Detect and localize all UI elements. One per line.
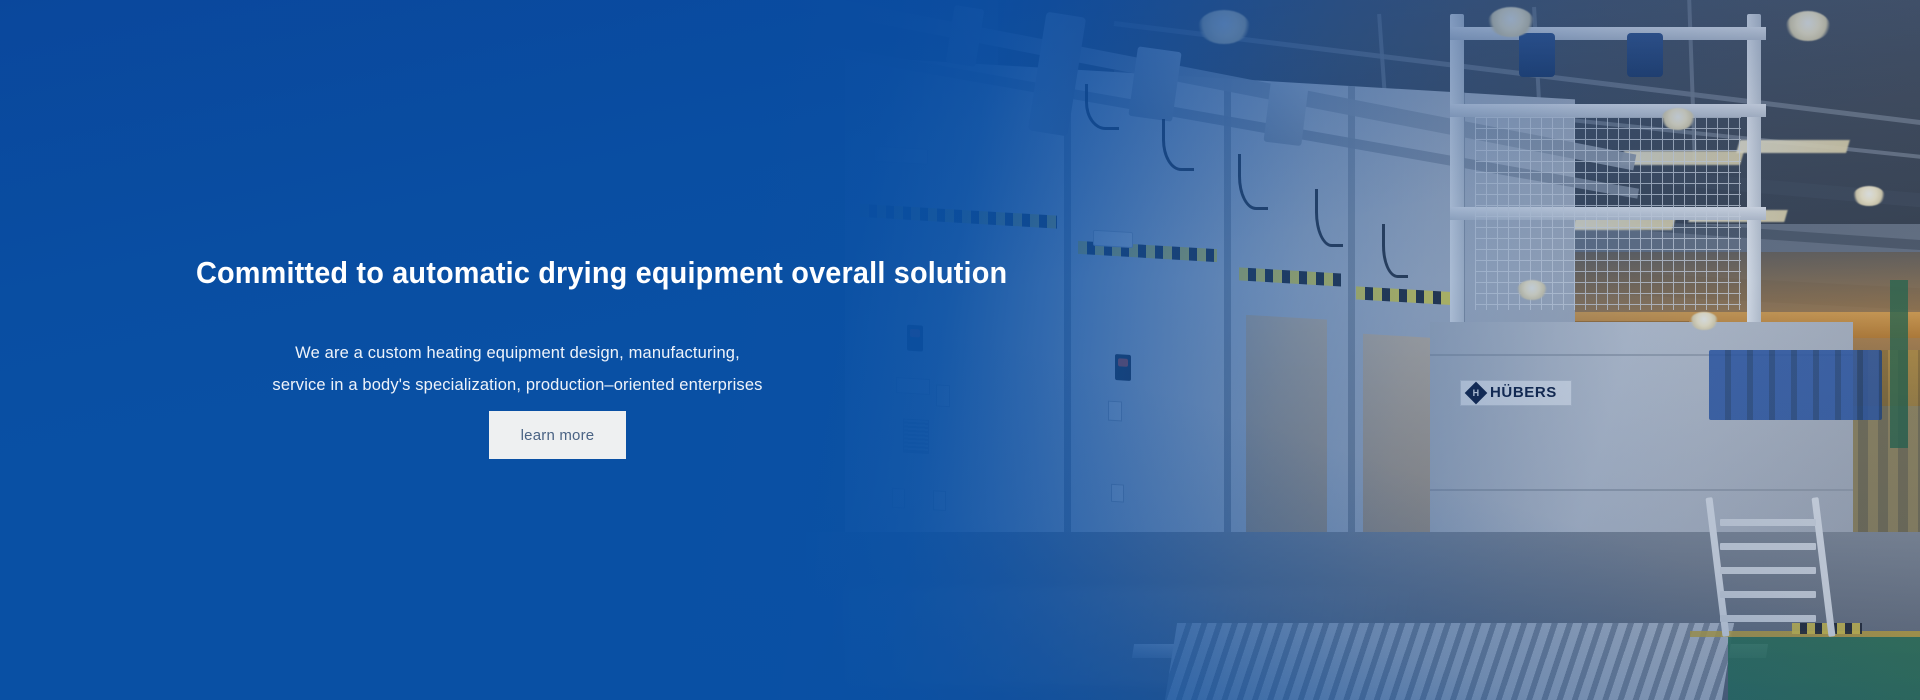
hero-subtitle-line-1: We are a custom heating equipment design… — [0, 344, 1035, 363]
hero-content: Committed to automatic drying equipment … — [0, 0, 1035, 700]
learn-more-button[interactable]: learn more — [489, 411, 626, 459]
hero-banner: H HÜBERS — [0, 0, 1920, 700]
hero-headline: Committed to automatic drying equipment … — [196, 256, 1007, 290]
hero-subtitle-line-2: service in a body's specialization, prod… — [0, 376, 1035, 395]
